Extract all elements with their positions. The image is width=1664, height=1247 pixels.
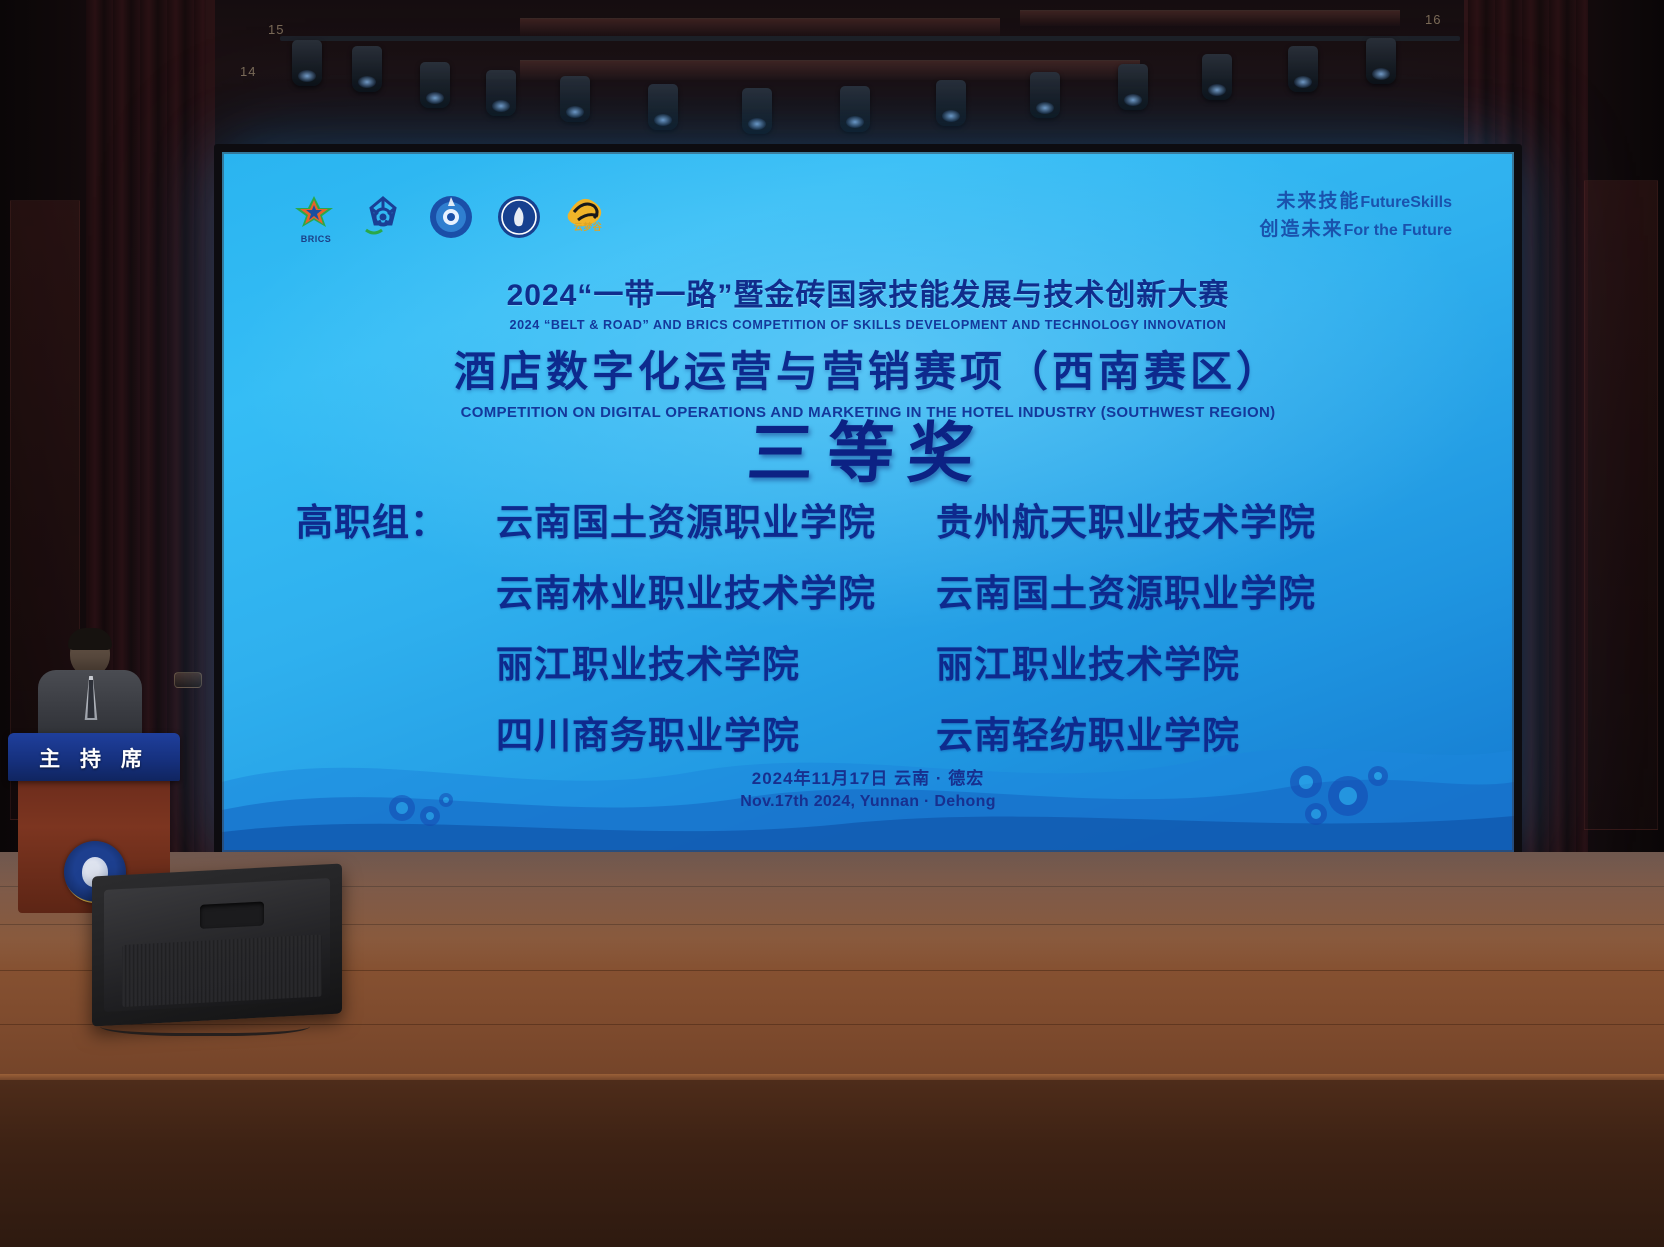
university-seal-logo <box>496 194 544 242</box>
led-presentation-screen: BRICS <box>222 152 1514 852</box>
yunnan-partner-logo: 云梦谷 <box>564 194 612 242</box>
stage-light <box>1030 72 1060 118</box>
winner-row: 云南林业职业技术学院 云南国土资源职业学院 <box>296 563 1446 617</box>
lighting-truss-bar <box>280 36 1460 41</box>
winner-school: 云南林业职业技术学院 <box>496 563 936 617</box>
speaker-front-face <box>104 878 330 1012</box>
ceiling-band <box>520 18 1000 36</box>
future-skills-slogan: 未来技能FutureSkills 创造未来For the Future <box>1260 188 1452 243</box>
event-title-cn: 酒店数字化运营与营销赛项（西南赛区） <box>222 338 1514 399</box>
wall-light-fixture <box>174 672 202 688</box>
speaker-handle <box>200 902 264 929</box>
stage-light <box>1202 54 1232 100</box>
yunnan-partner-caption: 云梦谷 <box>564 220 612 233</box>
stage-light <box>1118 64 1148 110</box>
ceiling-marker-15: 15 <box>268 22 284 37</box>
ceiling-area: 13 15 14 16 <box>0 0 1664 168</box>
stage-light <box>560 76 590 122</box>
podium-sign-label: 主 持 席 <box>8 743 180 773</box>
podium-header-panel: 主 持 席 <box>8 733 180 781</box>
sponsor-logo-strip: BRICS <box>292 194 612 242</box>
ceiling-marker-14: 14 <box>240 64 256 79</box>
date-location-cn: 2024年11月17日 云南 · 德宏 <box>222 764 1514 789</box>
stage-light <box>840 86 870 132</box>
winner-school: 四川商务职业学院 <box>496 705 936 759</box>
stage-light <box>648 84 678 130</box>
ceiling-band <box>1020 10 1400 26</box>
stage-light <box>1288 46 1318 92</box>
stage-light <box>1366 38 1396 84</box>
winner-school: 云南国土资源职业学院 <box>496 492 936 546</box>
award-title: 三等奖 <box>222 400 1514 496</box>
winner-school: 贵州航天职业技术学院 <box>936 492 1316 546</box>
stage-light <box>486 70 516 116</box>
skills-star-logo <box>360 194 408 242</box>
winner-row: 高职组： 云南国土资源职业学院 贵州航天职业技术学院 <box>296 492 1446 546</box>
slogan-line1-en: FutureSkills <box>1360 194 1452 211</box>
ceiling-marker-16: 16 <box>1425 12 1441 27</box>
slogan-line2-cn: 创造未来 <box>1260 219 1344 240</box>
presenter-hair <box>68 628 112 650</box>
winner-school: 丽江职业技术学院 <box>496 634 936 688</box>
auditorium-stage-scene: 13 15 14 16 <box>0 0 1664 1247</box>
stage-light <box>292 40 322 86</box>
competition-emblem-logo <box>428 194 476 242</box>
stage-light <box>352 46 382 92</box>
slogan-line1-cn: 未来技能 <box>1276 191 1360 212</box>
stage-light <box>742 88 772 134</box>
brics-logo-caption: BRICS <box>292 234 340 244</box>
speaker-cable <box>100 1012 310 1036</box>
date-location-en: Nov.17th 2024, Yunnan · Dehong <box>222 793 1514 811</box>
speaker-grill <box>122 934 322 1006</box>
wall-panel <box>1584 180 1658 830</box>
stage-light <box>936 80 966 126</box>
winner-row: 丽江职业技术学院 丽江职业技术学院 <box>296 634 1446 688</box>
slogan-line2-en: For the Future <box>1344 222 1452 239</box>
group-label: 高职组： <box>296 492 496 546</box>
winner-school: 云南国土资源职业学院 <box>936 563 1316 617</box>
competition-title-block: 2024“一带一路”暨金砖国家技能发展与技术创新大赛 2024 “BELT & … <box>222 270 1514 421</box>
winner-row: 四川商务职业学院 云南轻纺职业学院 <box>296 705 1446 759</box>
presenter-person <box>38 630 142 742</box>
stage-front-panel <box>0 1080 1664 1247</box>
winner-school: 丽江职业技术学院 <box>936 634 1240 688</box>
event-date-location: 2024年11月17日 云南 · 德宏 Nov.17th 2024, Yunna… <box>222 764 1514 811</box>
stage-light <box>420 62 450 108</box>
stage-monitor-speaker <box>92 863 342 1026</box>
competition-title-en: 2024 “BELT & ROAD” AND BRICS COMPETITION… <box>241 317 1494 332</box>
competition-title-cn: 2024“一带一路”暨金砖国家技能发展与技术创新大赛 <box>222 270 1514 314</box>
winners-list: 高职组： 云南国土资源职业学院 贵州航天职业技术学院 云南林业职业技术学院 云南… <box>296 492 1446 776</box>
winner-school: 云南轻纺职业学院 <box>936 705 1240 759</box>
brics-skills-logo: BRICS <box>292 194 340 242</box>
